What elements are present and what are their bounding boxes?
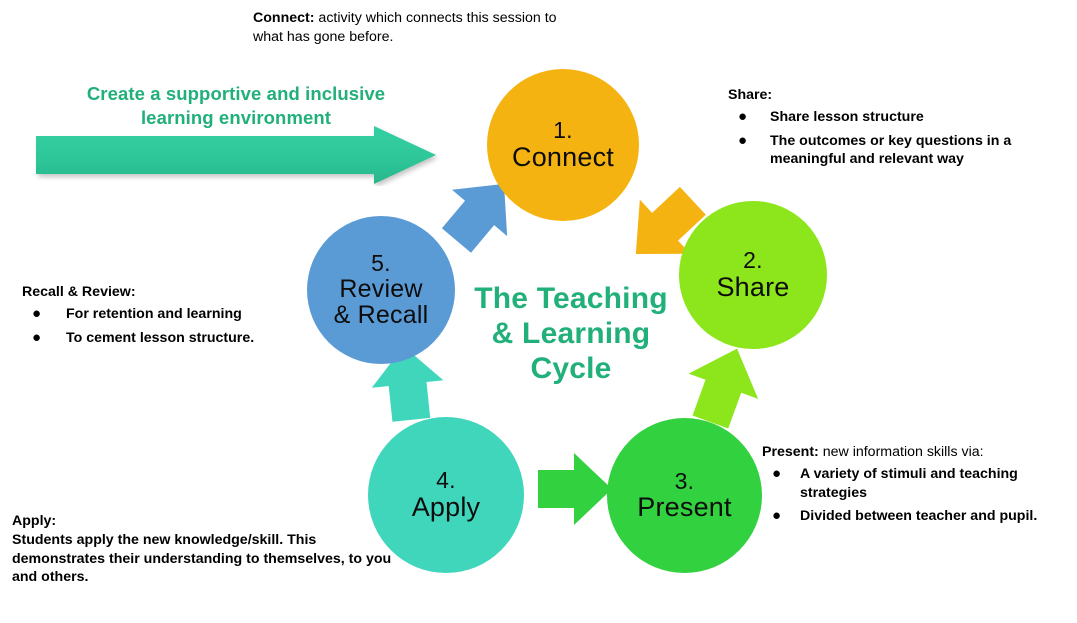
list-item-text: The outcomes or key questions in a meani… — [770, 133, 1011, 168]
note-present-heading-label: Present: — [762, 444, 819, 460]
note-share-bullet-list: ●Share lesson structure ●The outcomes or… — [728, 108, 1068, 170]
list-item-text: Share lesson structure — [770, 109, 924, 125]
page-title: The Teaching & Learning Cycle — [436, 281, 706, 386]
bullet-icon: ● — [772, 506, 781, 526]
note-connect-heading-label: Connect: — [253, 10, 314, 26]
note-present-heading-rest: new information skills via: — [819, 444, 984, 460]
bullet-icon: ● — [772, 464, 781, 484]
bullet-icon: ● — [738, 107, 747, 127]
list-item-text: For retention and learning — [66, 306, 242, 322]
note-apply: Apply: Students apply the new knowledge/… — [12, 512, 392, 587]
cycle-node-present-number: 3. — [675, 470, 695, 494]
cycle-node-apply-number: 4. — [436, 469, 456, 493]
banner-caption: Create a supportive and inclusive learni… — [48, 82, 424, 129]
note-share-heading-label: Share: — [728, 87, 772, 103]
cycle-node-connect[interactable]: 1. Connect — [487, 69, 639, 221]
note-recall-bullet-list: ●For retention and learning ●To cement l… — [22, 305, 322, 348]
cycle-node-connect-number: 1. — [553, 119, 573, 143]
bullet-icon: ● — [738, 131, 747, 151]
diagram-canvas: Create a supportive and inclusive learni… — [0, 0, 1077, 623]
list-item: ●A variety of stimuli and teaching strat… — [762, 465, 1077, 503]
note-share: Share: ●Share lesson structure ●The outc… — [728, 86, 1068, 174]
cycle-node-review-and-recall[interactable]: 5. Review & Recall — [307, 216, 455, 364]
cycle-node-apply-label: Apply — [412, 493, 481, 521]
note-recall-and-review: Recall & Review: ●For retention and lear… — [22, 283, 322, 352]
cycle-node-present-label: Present — [637, 493, 731, 521]
cycle-node-present[interactable]: 3. Present — [607, 418, 762, 573]
list-item: ●The outcomes or key questions in a mean… — [728, 132, 1068, 170]
note-connect-heading: Connect: activity which connects this se… — [253, 9, 583, 46]
list-item: ●To cement lesson structure. — [22, 329, 322, 348]
bullet-icon: ● — [32, 328, 41, 348]
arrow-present-to-apply — [538, 453, 612, 525]
note-recall-heading: Recall & Review: — [22, 283, 322, 302]
cycle-node-share-number: 2. — [743, 249, 763, 273]
cycle-node-share-label: Share — [716, 273, 789, 301]
list-item: ●Divided between teacher and pupil. — [762, 507, 1077, 526]
note-apply-heading: Apply: — [12, 512, 392, 531]
page-title-line1: The Teaching — [436, 281, 706, 316]
note-recall-heading-label: Recall & Review: — [22, 284, 136, 300]
list-item: ●Share lesson structure — [728, 108, 1068, 127]
list-item-text: A variety of stimuli and teaching strate… — [800, 466, 1018, 501]
cycle-node-review-number: 5. — [371, 252, 391, 276]
cycle-node-connect-label: Connect — [512, 143, 614, 171]
banner-caption-line1: Create a supportive and inclusive — [48, 82, 424, 106]
banner-caption-line2: learning environment — [48, 106, 424, 130]
note-present: Present: new information skills via: ●A … — [762, 443, 1077, 531]
cycle-node-review-label: Review — [339, 276, 422, 302]
list-item: ●For retention and learning — [22, 305, 322, 324]
note-apply-body: Students apply the new knowledge/skill. … — [12, 531, 392, 588]
note-present-bullet-list: ●A variety of stimuli and teaching strat… — [762, 465, 1077, 527]
list-item-text: To cement lesson structure. — [66, 330, 254, 346]
cycle-node-review-label2: & Recall — [334, 302, 429, 328]
bullet-icon: ● — [32, 304, 41, 324]
page-title-line3: Cycle — [436, 351, 706, 386]
note-share-heading: Share: — [728, 86, 1068, 105]
list-item-text: Divided between teacher and pupil. — [800, 508, 1037, 524]
note-connect: Connect: activity which connects this se… — [253, 9, 583, 46]
page-title-line2: & Learning — [436, 316, 706, 351]
note-present-heading: Present: new information skills via: — [762, 443, 1077, 462]
